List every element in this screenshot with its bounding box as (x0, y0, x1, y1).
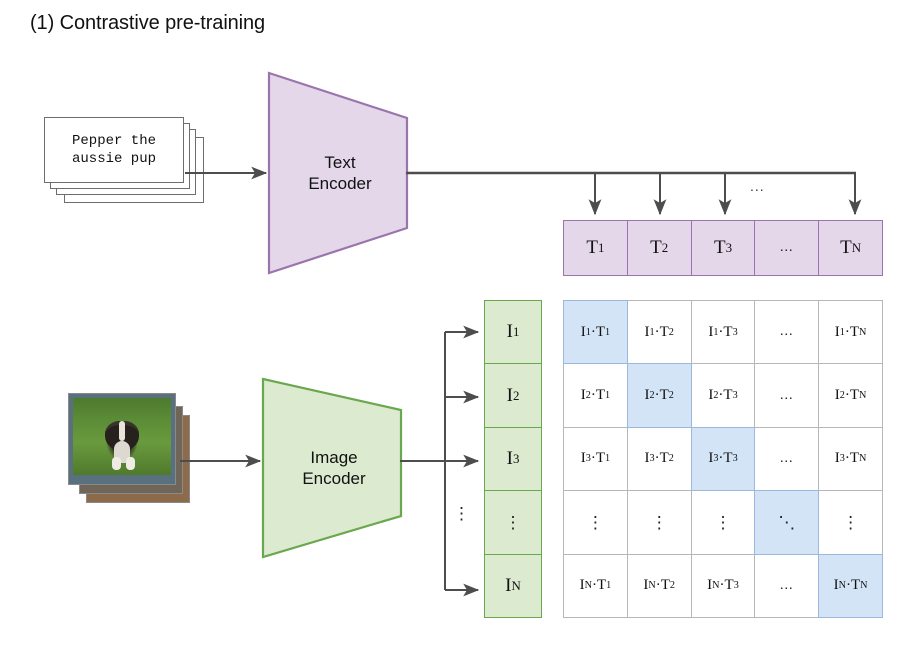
image-embedding-cell: I3 (484, 427, 542, 491)
text-embedding-bus-ellipsis: ... (750, 178, 765, 194)
similarity-cell-ellipsis: ⋮ (563, 490, 628, 554)
similarity-cell-ellipsis: ... (754, 363, 819, 427)
similarity-cell: I1·TN (818, 300, 883, 364)
similarity-cell: I2·T1 (563, 363, 628, 427)
wire-text-encoder-to-bus (406, 173, 856, 214)
similarity-cell-ellipsis: ... (754, 554, 819, 618)
similarity-cell: I3·T2 (627, 427, 692, 491)
matrix-row: I1·T1I1·T2I1·T3...I1·TN (563, 300, 883, 364)
similarity-cell: IN·T2 (627, 554, 692, 618)
similarity-cell: I3·T1 (563, 427, 628, 491)
image-embedding-cell: I2 (484, 363, 542, 427)
puppy-photo (73, 398, 171, 475)
text-embedding-cell: T3 (691, 220, 756, 276)
caption-card-front: Pepper the aussie pup (44, 117, 184, 183)
similarity-cell-ellipsis: ⋮ (818, 490, 883, 554)
similarity-cell: I2·TN (818, 363, 883, 427)
image-encoder-block[interactable]: Image Encoder (260, 376, 408, 560)
page-title: (1) Contrastive pre-training (30, 12, 265, 35)
image-thumbnail-stack (68, 393, 198, 508)
similarity-cell-ellipsis: ⋱ (754, 490, 819, 554)
image-encoder-shape (260, 376, 408, 560)
matrix-row: I2·T1I2·T2I2·T3...I2·TN (563, 364, 883, 427)
similarity-cell-ellipsis: ... (754, 300, 819, 364)
text-encoder-block[interactable]: Text Encoder (266, 70, 414, 276)
matrix-row: ⋮⋮⋮⋱⋮ (563, 491, 883, 554)
similarity-cell-ellipsis: ⋮ (691, 490, 756, 554)
similarity-cell: IN·T3 (691, 554, 756, 618)
text-embedding-cell: T2 (627, 220, 692, 276)
image-thumbnail-front (68, 393, 176, 485)
text-encoder-shape (266, 70, 414, 276)
image-embedding-cell: I1 (484, 300, 542, 364)
puppy-paw-right (126, 457, 135, 470)
wire-image-encoder-to-bus (400, 332, 478, 590)
text-embedding-cell: T1 (563, 220, 628, 276)
image-embedding-cell: IN (484, 554, 542, 618)
matrix-row: I3·T1I3·T2I3·T3...I3·TN (563, 428, 883, 491)
similarity-cell: IN·T1 (563, 554, 628, 618)
similarity-cell: I3·T3 (691, 427, 756, 491)
puppy-paw-left (112, 457, 121, 470)
similarity-cell: I1·T2 (627, 300, 692, 364)
text-embedding-cell-ellipsis: ... (754, 220, 819, 276)
image-embedding-column: I1I2I3⋮IN (484, 300, 542, 618)
similarity-cell: I3·TN (818, 427, 883, 491)
matrix-row: IN·T1IN·T2IN·T3...IN·TN (563, 555, 883, 618)
similarity-cell: I1·T1 (563, 300, 628, 364)
text-embedding-cell: TN (818, 220, 883, 276)
caption-card-stack: Pepper the aussie pup (44, 117, 204, 203)
puppy-blaze (119, 421, 125, 441)
similarity-cell: I2·T3 (691, 363, 756, 427)
similarity-cell-ellipsis: ... (754, 427, 819, 491)
image-embedding-cell-ellipsis: ⋮ (484, 490, 542, 554)
similarity-matrix: I1·T1I1·T2I1·T3...I1·TNI2·T1I2·T2I2·T3..… (563, 300, 883, 618)
text-embedding-row: T1T2T3...TN (563, 220, 883, 276)
similarity-cell: I2·T2 (627, 363, 692, 427)
diagram-canvas: (1) Contrastive pre-training Pepper the … (0, 0, 906, 654)
similarity-cell: IN·TN (818, 554, 883, 618)
caption-text: Pepper the aussie pup (72, 132, 156, 168)
similarity-cell-ellipsis: ⋮ (627, 490, 692, 554)
image-bus-ellipsis: ⋮ (453, 505, 470, 522)
similarity-cell: I1·T3 (691, 300, 756, 364)
